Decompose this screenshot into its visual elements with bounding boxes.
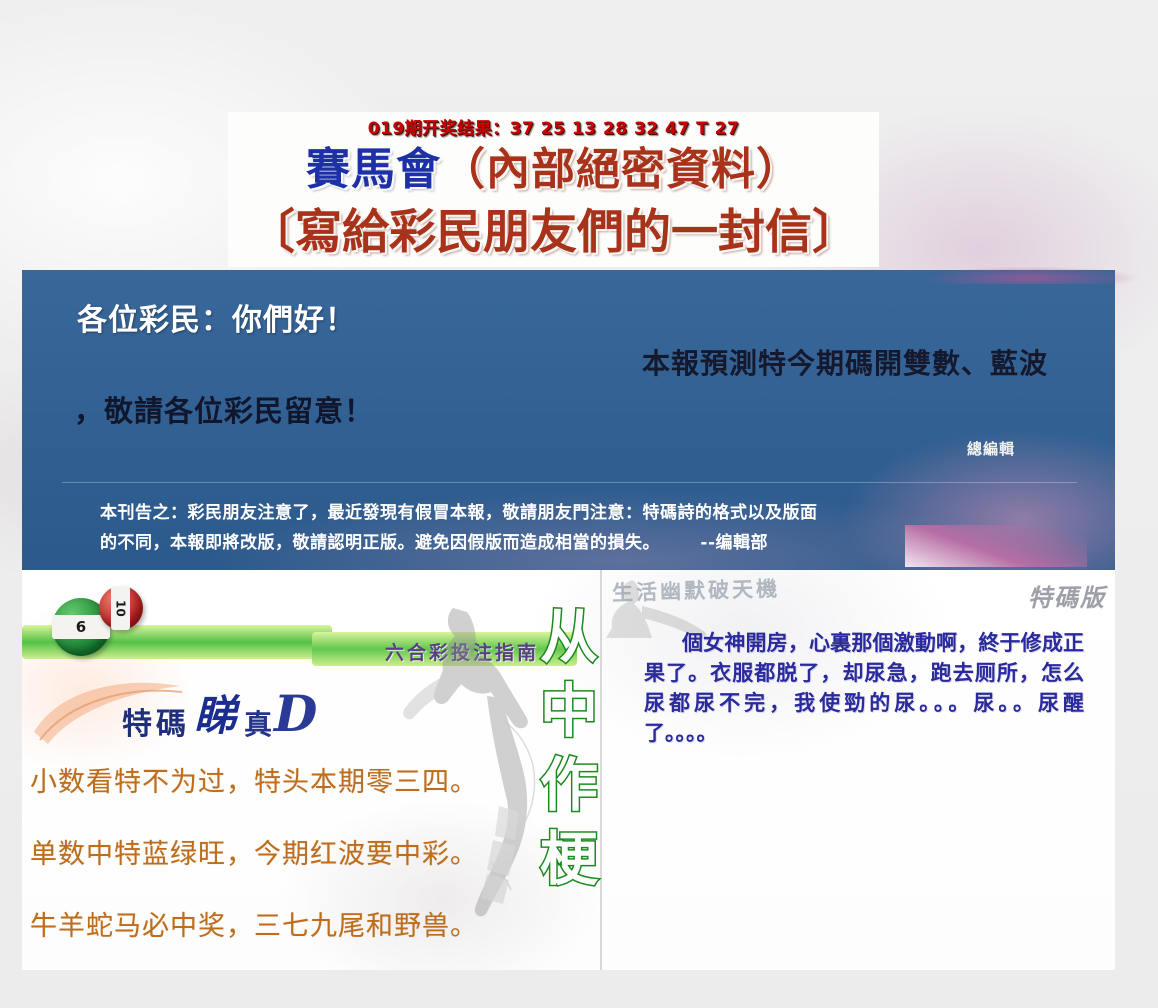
- vertical-slogan-char: 中: [540, 674, 598, 748]
- tema-logo-part-4: D: [274, 684, 317, 743]
- letter-panel: 各位彩民：你們好！ 本報預測特今期碼開雙數、藍波 ，敬請各位彩民留意！ 總編輯 …: [22, 270, 1115, 570]
- letter-signature: 總編輯: [967, 438, 1015, 459]
- disclaimer-department: --编輯部: [700, 533, 768, 553]
- lottery-ball-red-number: 10: [111, 586, 130, 630]
- title-letter-subtitle: 〔寫給彩民朋友們的一封信〕: [248, 193, 859, 262]
- humor-section-heading: 生活幽默破天機: [612, 573, 781, 607]
- lottery-ball-red-icon: 10: [99, 586, 143, 630]
- vertical-slogan-char: 梗: [540, 822, 598, 896]
- tema-logo: 特碼 睇 真 D: [122, 682, 317, 743]
- disclaimer-line-2: 的不同，本報即將改版，敬請認明正版。避免因假版而造成相當的損失。: [100, 533, 660, 553]
- tema-logo-part-3: 真: [244, 703, 272, 743]
- letter-forecast: 本報預測特今期碼開雙數、藍波: [642, 342, 1048, 382]
- masthead-card: 019期开奖结果：37 25 13 28 32 47 T 27 賽馬會 （內部絕…: [228, 112, 879, 267]
- tema-logo-part-2: 睇: [194, 682, 236, 743]
- disclaimer-line-1: 本刊告之：彩民朋友注意了，最近發現有假冒本報，敬請朋友門注意：特碼詩的格式以及版…: [100, 498, 1100, 528]
- vertical-slogan-char: 从: [540, 600, 598, 674]
- title-organization: 賽馬會: [306, 133, 441, 197]
- letter-disclaimer: 本刊告之：彩民朋友注意了，最近發現有假冒本報，敬請朋友門注意：特碼詩的格式以及版…: [100, 498, 1100, 558]
- letter-greeting: 各位彩民：你們好！: [77, 295, 356, 339]
- vertical-slogan: 从 中 作 梗: [540, 600, 598, 896]
- panel-divider: [62, 482, 1077, 483]
- vertical-slogan-char: 作: [540, 748, 598, 822]
- title-confidential: （內部絕密資料）: [441, 133, 801, 197]
- letter-notice: ，敬請各位彩民留意！: [74, 388, 374, 430]
- edition-label: 特碼版: [1028, 578, 1106, 613]
- tema-logo-part-1: 特碼: [122, 699, 190, 743]
- title-row-secondary: 〔寫給彩民朋友們的一封信〕: [228, 194, 879, 260]
- title-row-primary: 賽馬會 （內部絕密資料）: [228, 134, 879, 196]
- disclaimer-line-2-wrap: 的不同，本報即將改版，敬請認明正版。避免因假版而造成相當的損失。 --编輯部: [100, 528, 1100, 558]
- humor-story-text: 個女神開房，心裏那個激動啊，終于修成正果了。衣服都脱了，却尿急，跑去厕所，怎么尿…: [644, 628, 1084, 748]
